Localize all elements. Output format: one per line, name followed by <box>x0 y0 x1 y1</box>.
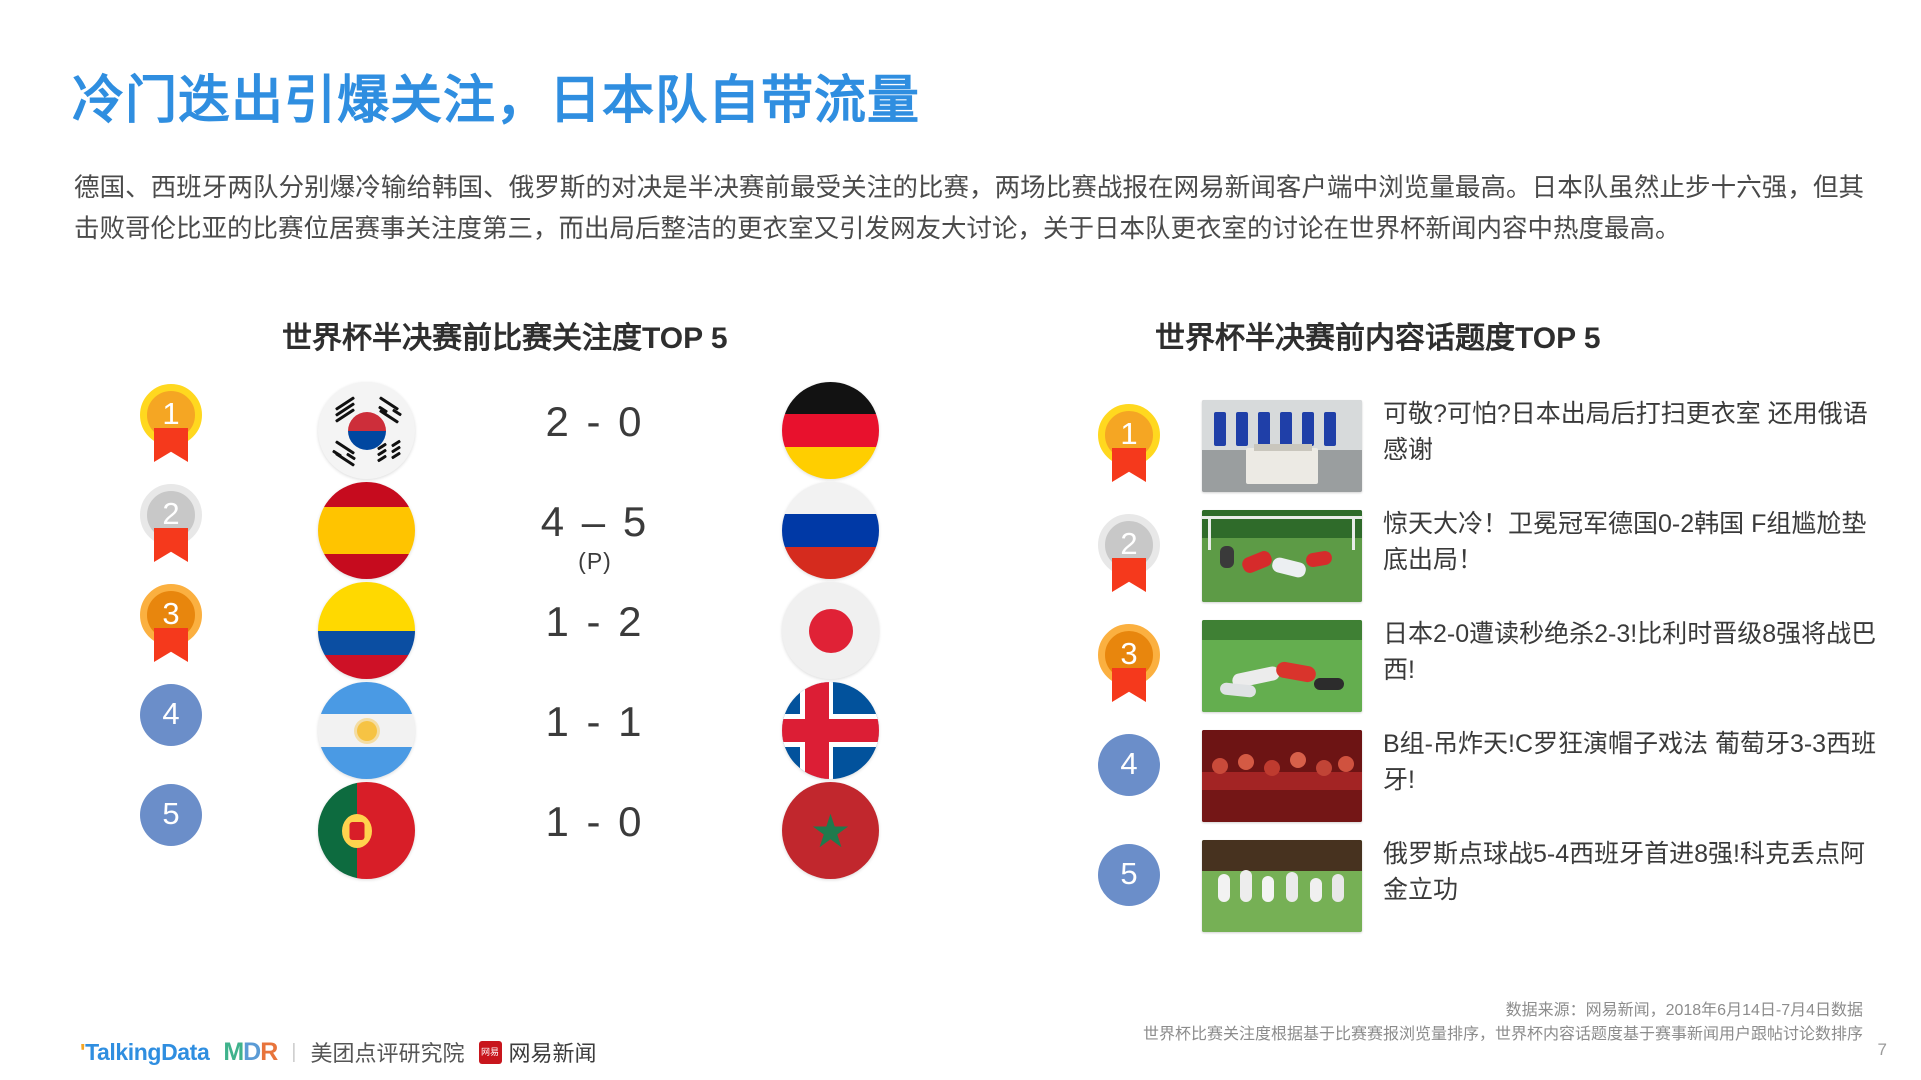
article-title[interactable]: 惊天大冷！卫冕冠军德国0-2韩国 F组尴尬垫底出局！ <box>1383 506 1883 578</box>
ribbon-icon <box>1112 668 1146 702</box>
source-line-primary: 数据来源：网易新闻，2018年6月14日-7月4日数据 <box>1506 996 1863 1020</box>
rank-badge-2: 2 <box>1098 514 1160 596</box>
locker-room-photo-thumbnail[interactable] <box>1202 400 1362 492</box>
article-row[interactable]: 4 B组-吊炸天!C罗狂演帽子戏法 葡萄牙3-3西班牙! <box>0 730 960 830</box>
celebration-photo-thumbnail[interactable] <box>1202 840 1362 932</box>
article-row[interactable]: 3 日本2-0遭读秒绝杀2-3!比利时晋级8强将战巴西! <box>0 620 960 720</box>
right-panel-heading: 世界杯半决赛前内容话题度TOP 5 <box>1155 313 1601 357</box>
page-title: 冷门迭出引爆关注，日本队自带流量 <box>72 58 920 133</box>
article-title[interactable]: 俄罗斯点球战5-4西班牙首进8强!科克丢点阿金立功 <box>1383 836 1883 908</box>
players-on-pitch-photo-thumbnail[interactable] <box>1202 620 1362 712</box>
source-line-secondary: 世界杯比赛关注度根据基于比赛赛报浏览量排序，世界杯内容话题度基于赛事新闻用户跟帖… <box>1143 1020 1863 1044</box>
red-crowd-photo-thumbnail[interactable] <box>1202 730 1362 822</box>
article-title[interactable]: B组-吊炸天!C罗狂演帽子戏法 葡萄牙3-3西班牙! <box>1383 726 1883 798</box>
ribbon-icon <box>1112 448 1146 482</box>
ribbon-icon <box>1112 558 1146 592</box>
article-row[interactable]: 5 俄罗斯点球战5-4西班牙首进8强!科克丢点阿金立功 <box>0 840 960 940</box>
rank-badge-4: 4 <box>1098 734 1160 816</box>
talkingdata-logo: 'TalkingData <box>80 1039 209 1066</box>
page-number: 7 <box>1878 1040 1887 1060</box>
article-title[interactable]: 可敬?可怕?日本出局后打扫更衣室 还用俄语感谢 <box>1383 396 1883 468</box>
rank-badge-5: 5 <box>1098 844 1160 926</box>
logo-divider: | <box>291 1041 296 1064</box>
netease-mark-icon: 网易 <box>479 1041 502 1064</box>
goal-save-photo-thumbnail[interactable] <box>1202 510 1362 602</box>
mdr-logo: MDR <box>223 1038 277 1067</box>
rank-badge-3: 3 <box>1098 624 1160 706</box>
rank-disc: 5 <box>1098 844 1160 906</box>
left-panel-heading: 世界杯半决赛前比赛关注度TOP 5 <box>282 313 728 357</box>
slide: 冷门迭出引爆关注，日本队自带流量 德国、西班牙两队分别爆冷输给韩国、俄罗斯的对决… <box>0 0 1921 1080</box>
intro-paragraph: 德国、西班牙两队分别爆冷输给韩国、俄罗斯的对决是半决赛前最受关注的比赛，两场比赛… <box>74 168 1864 250</box>
rank-badge-1: 1 <box>1098 404 1160 486</box>
netease-news-logo: 网易 网易新闻 <box>479 1036 597 1068</box>
rank-disc: 4 <box>1098 734 1160 796</box>
logo-bar: 'TalkingData MDR | 美团点评研究院 网易 网易新闻 <box>80 1036 597 1068</box>
article-title[interactable]: 日本2-0遭读秒绝杀2-3!比利时晋级8强将战巴西! <box>1383 616 1883 688</box>
article-row[interactable]: 2 惊天大冷！卫冕冠军德国0-2韩国 F组尴尬垫底出局！ <box>0 510 960 610</box>
meituan-research-logo: 美团点评研究院 <box>311 1036 465 1068</box>
article-row[interactable]: 1 可敬?可怕?日本出局后打扫更衣室 还用俄语感谢 <box>0 400 960 500</box>
